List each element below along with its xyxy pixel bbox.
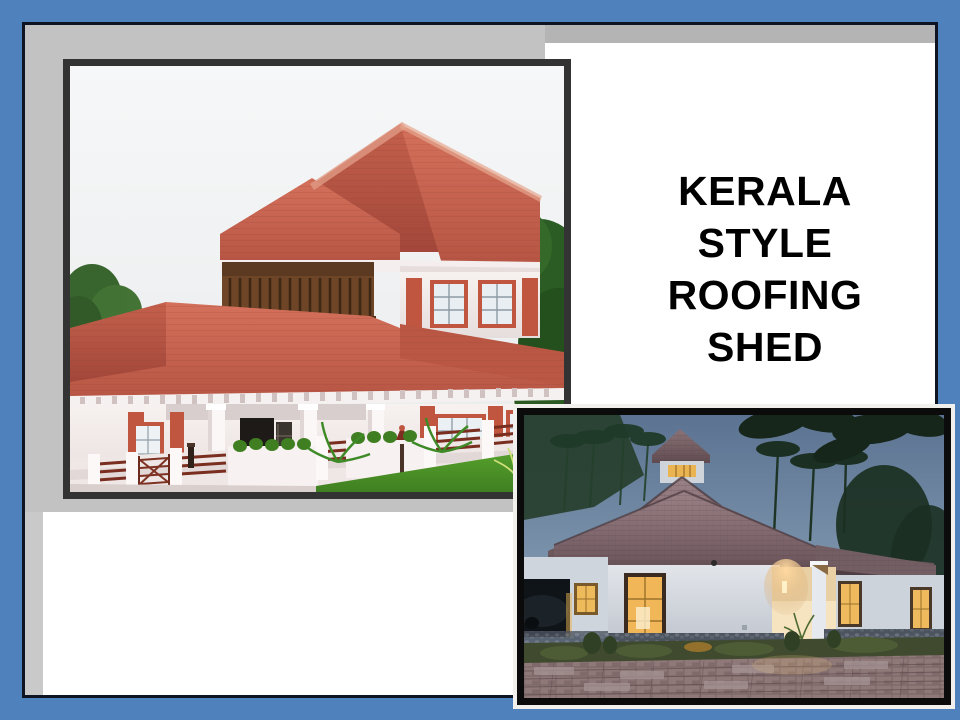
photo-kerala-house-dusk-canvas: [524, 415, 944, 698]
photo-kerala-house-daytime[interactable]: [63, 59, 571, 499]
title-line-4: SHED: [581, 321, 949, 373]
slide-canvas: KERALA STYLE ROOFING SHED: [0, 0, 960, 720]
slide-content-area: KERALA STYLE ROOFING SHED: [22, 22, 938, 698]
title-line-3: ROOFING: [581, 269, 949, 321]
photo-kerala-house-daytime-canvas: [70, 66, 564, 492]
slide-title: KERALA STYLE ROOFING SHED: [581, 165, 949, 373]
title-line-1: KERALA: [581, 165, 949, 217]
title-line-2: STYLE: [581, 217, 949, 269]
photo-kerala-house-dusk[interactable]: [517, 408, 951, 705]
